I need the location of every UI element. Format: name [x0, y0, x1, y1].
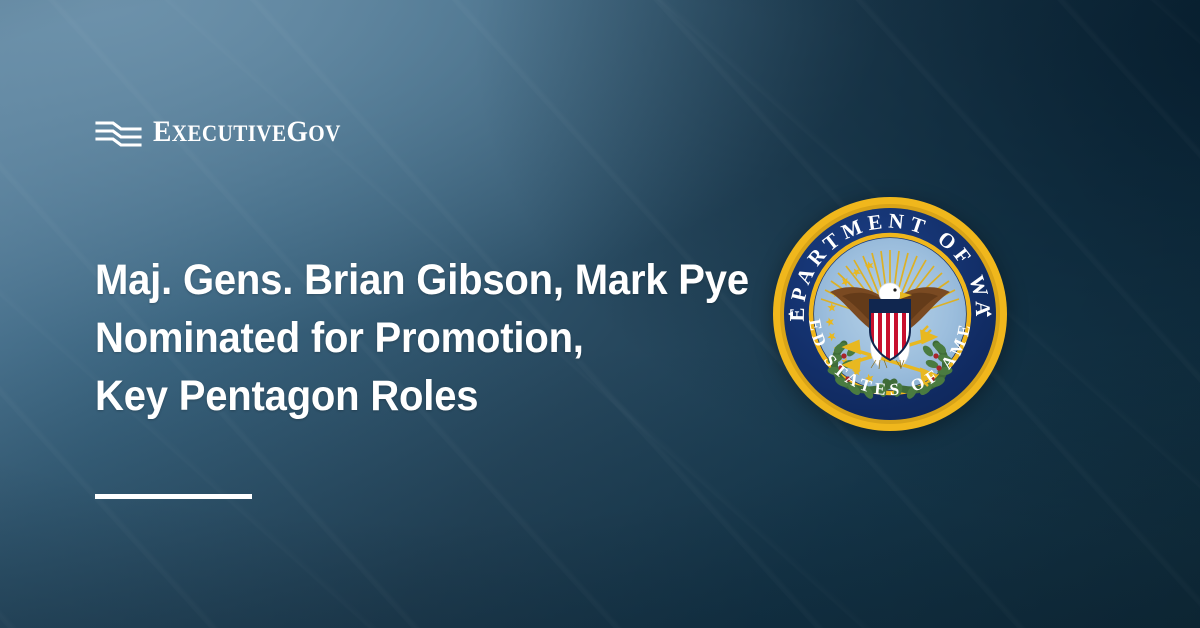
brand-name-rest-2: OV [308, 121, 340, 146]
social-share-card: EXECUTIVEGOV Maj. Gens. Brian Gibson, Ma… [0, 0, 1200, 628]
brand-name: EXECUTIVEGOV [153, 117, 341, 147]
brand-name-lead-2: G [286, 115, 308, 148]
wavy-lines-logo-icon [95, 116, 142, 147]
headline-line-1: Maj. Gens. Brian Gibson, Mark Pye [95, 251, 690, 309]
headline-line-3: Key Pentagon Roles [95, 367, 690, 425]
brand-logo[interactable]: EXECUTIVEGOV [95, 116, 357, 147]
department-of-war-seal: DEPARTMENT OF WAR UNITED STATES OF AMERI… [772, 196, 1008, 432]
headline-divider-rule [95, 494, 252, 499]
headline-line-2: Nominated for Promotion, [95, 309, 690, 367]
brand-name-lead-1: E [153, 115, 172, 148]
headline: Maj. Gens. Brian Gibson, Mark Pye Nomina… [95, 251, 735, 425]
brand-name-rest-1: XECUTIVE [172, 121, 287, 146]
